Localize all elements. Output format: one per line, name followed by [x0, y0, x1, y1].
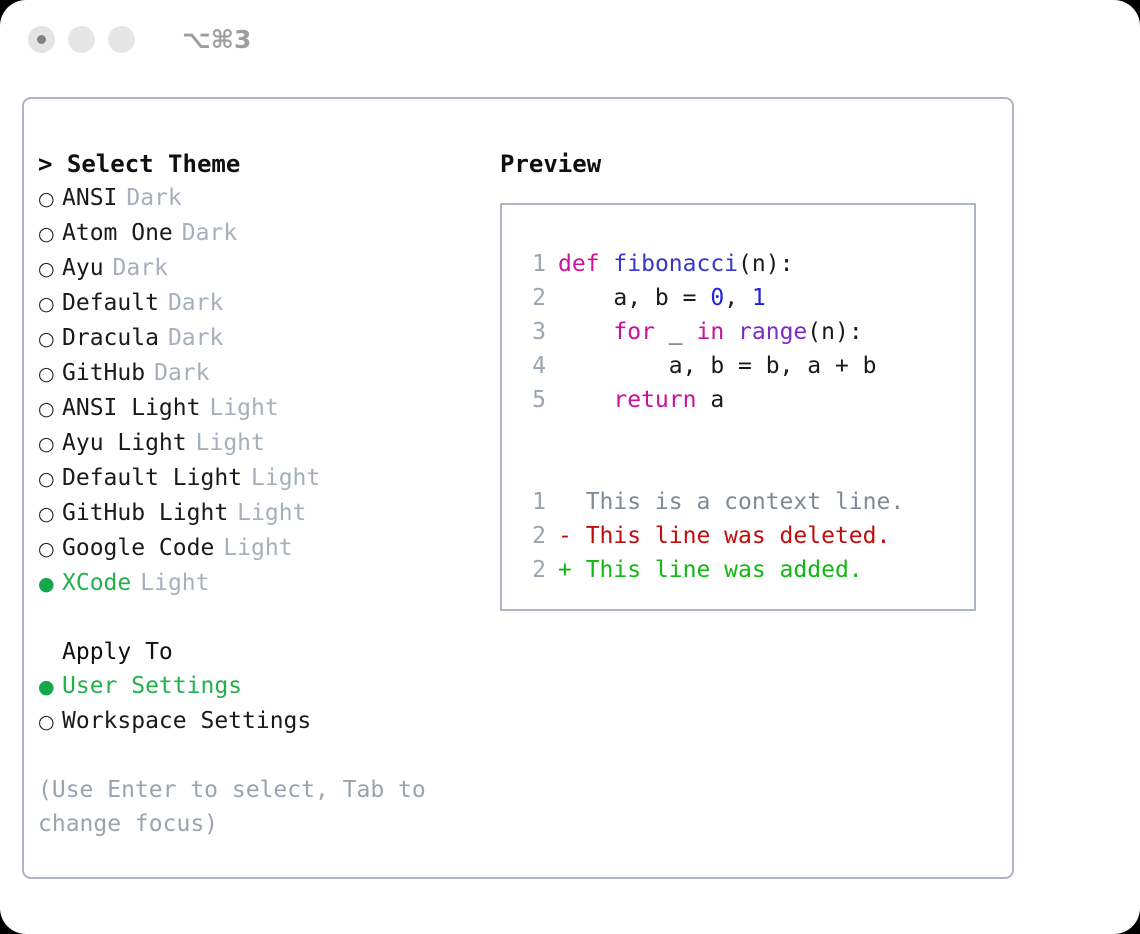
theme-list-item[interactable]: ○GitHubDark [38, 356, 508, 391]
code-line: 1def fibonacci(n): [516, 247, 974, 281]
radio-unselected-icon[interactable]: ○ [38, 497, 62, 531]
theme-name-label: Ayu Light [62, 426, 187, 460]
radio-selected-icon[interactable]: ● [38, 670, 62, 704]
code-token-plain: (n): [807, 319, 862, 345]
code-token-num: 0 [710, 285, 724, 311]
theme-name-label: GitHub Light [62, 496, 228, 530]
code-token-plain: a, b = [558, 285, 710, 311]
theme-variant-label: Light [140, 566, 209, 600]
code-line: 5 return a [516, 383, 974, 417]
code-line-content: a, b = 0, 1 [558, 281, 766, 315]
theme-variant-label: Light [209, 391, 278, 425]
theme-list-item[interactable]: ○DraculaDark [38, 321, 508, 356]
line-number: 1 [516, 247, 546, 281]
line-number: 4 [516, 349, 546, 383]
code-block: 1def fibonacci(n):2 a, b = 0, 13 for _ i… [516, 247, 974, 417]
preview-title: Preview [500, 147, 1000, 181]
theme-list-item[interactable]: ●XCodeLight [38, 566, 508, 601]
title-bar: ⌥⌘3 [0, 0, 1140, 78]
diff-line-ctx: 1 This is a context line. [516, 485, 974, 519]
code-preview-box: 1def fibonacci(n):2 a, b = 0, 13 for _ i… [500, 203, 976, 611]
theme-variant-label: Dark [113, 251, 168, 285]
keyboard-shortcut-label: ⌥⌘3 [182, 25, 251, 54]
theme-list-item[interactable]: ○GitHub LightLight [38, 496, 508, 531]
diff-line-add: 2+ This line was added. [516, 553, 974, 587]
section-spacer [38, 601, 508, 635]
line-number: 3 [516, 315, 546, 349]
code-line: 2 a, b = 0, 1 [516, 281, 974, 315]
window-dot-active-icon[interactable] [28, 26, 55, 53]
diff-line-text: This is a context line. [558, 485, 904, 519]
theme-list-item[interactable]: ○Atom OneDark [38, 216, 508, 251]
theme-name-label: XCode [62, 566, 131, 600]
code-line: 4 a, b = b, a + b [516, 349, 974, 383]
theme-name-label: Default [62, 286, 159, 320]
radio-unselected-icon[interactable]: ○ [38, 287, 62, 321]
code-token-kw: for [613, 319, 655, 345]
code-blank-line [516, 417, 974, 451]
window-dot-icon-2[interactable] [68, 26, 95, 53]
code-token-plain [724, 319, 738, 345]
line-number: 2 [516, 553, 546, 587]
code-token-kw: def [558, 251, 600, 277]
theme-variant-label: Dark [154, 356, 209, 390]
code-token-plain [558, 387, 613, 413]
theme-list[interactable]: ○ANSIDark○Atom OneDark○AyuDark○DefaultDa… [38, 181, 508, 601]
radio-unselected-icon[interactable]: ○ [38, 392, 62, 426]
code-token-bi: range [738, 319, 807, 345]
code-token-plain: , [724, 285, 752, 311]
theme-list-item[interactable]: ○DefaultDark [38, 286, 508, 321]
radio-unselected-icon[interactable]: ○ [38, 705, 62, 739]
theme-name-label: ANSI [62, 181, 117, 215]
app-window: ⌥⌘3 > Select Theme ○ANSIDark○Atom OneDar… [0, 0, 1140, 934]
theme-name-label: Default Light [62, 461, 242, 495]
theme-list-item[interactable]: ○Default LightLight [38, 461, 508, 496]
code-token-kw: return [613, 387, 696, 413]
apply-to-list-item[interactable]: ●User Settings [38, 669, 508, 704]
code-blank-line-2 [516, 451, 974, 485]
code-token-plain: a, b = b, a + b [558, 353, 877, 379]
line-number: 1 [516, 485, 546, 519]
keyboard-hint-text: (Use Enter to select, Tab to change focu… [38, 773, 458, 841]
apply-to-list-item[interactable]: ○Workspace Settings [38, 704, 508, 739]
line-number: 5 [516, 383, 546, 417]
theme-variant-label: Light [251, 461, 320, 495]
theme-name-label: Dracula [62, 321, 159, 355]
theme-variant-label: Dark [168, 286, 223, 320]
code-token-plain: (n): [738, 251, 793, 277]
diff-line-text: + This line was added. [558, 553, 863, 587]
code-line-content: for _ in range(n): [558, 315, 863, 349]
radio-unselected-icon[interactable]: ○ [38, 357, 62, 391]
page-title: > Select Theme [38, 147, 508, 181]
radio-unselected-icon[interactable]: ○ [38, 322, 62, 356]
radio-unselected-icon[interactable]: ○ [38, 462, 62, 496]
line-number: 2 [516, 281, 546, 315]
code-line-content: return a [558, 383, 724, 417]
code-token-plain: _ [655, 319, 697, 345]
theme-name-label: Ayu [62, 251, 104, 285]
code-token-num: 1 [752, 285, 766, 311]
theme-picker-column: > Select Theme ○ANSIDark○Atom OneDark○Ay… [38, 147, 508, 841]
code-token-kw: in [696, 319, 724, 345]
code-token-plain [558, 319, 613, 345]
code-token-fn: fibonacci [613, 251, 738, 277]
diff-line-text: - This line was deleted. [558, 519, 890, 553]
theme-variant-label: Light [223, 531, 292, 565]
theme-variant-label: Dark [182, 216, 237, 250]
window-dot-icon-3[interactable] [108, 26, 135, 53]
theme-name-label: Atom One [62, 216, 173, 250]
code-line-content: a, b = b, a + b [558, 349, 877, 383]
theme-variant-label: Dark [168, 321, 223, 355]
theme-list-item[interactable]: ○ANSI LightLight [38, 391, 508, 426]
diff-line-del: 2- This line was deleted. [516, 519, 974, 553]
apply-to-heading: Apply To [38, 635, 508, 669]
theme-variant-label: Light [196, 426, 265, 460]
theme-list-item[interactable]: ○Google CodeLight [38, 531, 508, 566]
radio-unselected-icon[interactable]: ○ [38, 532, 62, 566]
code-line-content: def fibonacci(n): [558, 247, 793, 281]
radio-unselected-icon[interactable]: ○ [38, 182, 62, 216]
theme-list-item[interactable]: ○ANSIDark [38, 181, 508, 216]
code-token-plain [600, 251, 614, 277]
theme-name-label: ANSI Light [62, 391, 200, 425]
code-token-plain: a [696, 387, 724, 413]
apply-to-label: Workspace Settings [62, 704, 311, 738]
theme-variant-label: Light [237, 496, 306, 530]
theme-variant-label: Dark [126, 181, 181, 215]
apply-to-list[interactable]: ●User Settings○Workspace Settings [38, 669, 508, 739]
theme-list-item[interactable]: ○Ayu LightLight [38, 426, 508, 461]
apply-to-label: User Settings [62, 669, 242, 703]
theme-list-item[interactable]: ○AyuDark [38, 251, 508, 286]
radio-unselected-icon[interactable]: ○ [38, 217, 62, 251]
code-line: 3 for _ in range(n): [516, 315, 974, 349]
diff-block: 1 This is a context line.2- This line wa… [516, 485, 974, 587]
radio-unselected-icon[interactable]: ○ [38, 252, 62, 286]
line-number: 2 [516, 519, 546, 553]
theme-name-label: Google Code [62, 531, 214, 565]
radio-selected-icon[interactable]: ● [38, 567, 62, 601]
theme-name-label: GitHub [62, 356, 145, 390]
radio-unselected-icon[interactable]: ○ [38, 427, 62, 461]
preview-column: Preview 1def fibonacci(n):2 a, b = 0, 13… [500, 147, 1000, 611]
main-panel: > Select Theme ○ANSIDark○Atom OneDark○Ay… [22, 97, 1014, 879]
window-dot-inner [37, 35, 46, 44]
